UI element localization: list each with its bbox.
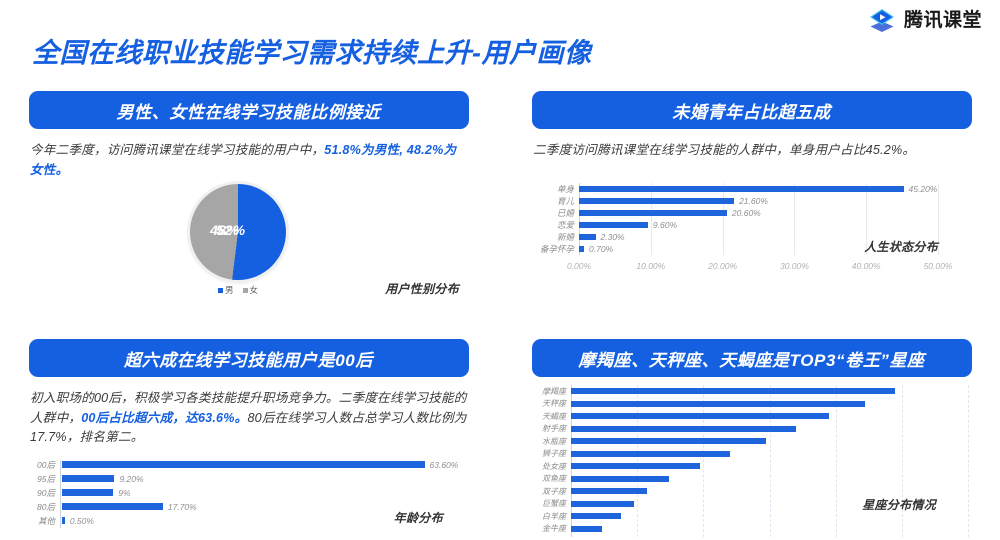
pie-label-female: 48%	[210, 222, 240, 238]
play-diamond-icon	[867, 6, 897, 36]
zodiac-bar	[571, 451, 730, 457]
zodiac-chart-caption: 星座分布情况	[862, 496, 936, 513]
zodiac-bar	[571, 426, 796, 432]
zodiac-bar-track	[571, 451, 968, 457]
age-bar-value: 63.60%	[425, 460, 459, 470]
legend-label-male: 男	[225, 284, 234, 296]
zodiac-bar	[571, 501, 634, 507]
zodiac-bar-label: 摩羯座	[517, 386, 571, 397]
card-zodiac: 摩羯座、天秤座、天蝎座是TOP3“卷王”星座 摩羯座天秤座天蝎座射手座水瓶座狮子…	[503, 330, 1000, 540]
life-bar-row: 单身45.20%	[517, 183, 972, 195]
zodiac-bar-label: 狮子座	[517, 448, 571, 459]
life-bar-label: 育儿	[517, 195, 579, 207]
age-bar-track: 9.20%	[62, 475, 461, 482]
legend-item-female: 女	[243, 284, 259, 296]
age-bar-value: 0.50%	[65, 516, 94, 526]
life-chart-caption: 人生状态分布	[864, 238, 938, 255]
card-age-body: 初入职场的00后，积极学习各类技能提升职场竞争力。二季度在线学习技能的人群中，0…	[30, 389, 467, 448]
life-bar-value: 21.60%	[734, 196, 768, 206]
zodiac-bar-label: 巨蟹座	[517, 498, 571, 509]
age-bar-row: 00后63.60%	[14, 458, 469, 472]
life-bar-value: 45.20%	[904, 184, 938, 194]
life-bar-track: 20.60%	[579, 210, 938, 216]
life-bar-label: 恋爱	[517, 219, 579, 231]
zodiac-bar-label: 双鱼座	[517, 473, 571, 484]
life-bar-track: 21.60%	[579, 198, 938, 204]
zodiac-bar-row: 射手座	[517, 423, 972, 436]
zodiac-bar	[571, 526, 602, 532]
age-chart-caption: 年龄分布	[394, 509, 443, 526]
life-bar-label: 单身	[517, 183, 579, 195]
zodiac-bar-label: 白羊座	[517, 511, 571, 522]
life-status-chart: 单身45.20%育儿21.60%已婚20.60%恋爱9.60%新婚2.30%备孕…	[517, 183, 972, 275]
zodiac-bar-label: 金牛座	[517, 523, 571, 534]
x-tick-label: 10.00%	[636, 261, 665, 271]
zodiac-bar-label: 天秤座	[517, 398, 571, 409]
zodiac-bar-row: 天蝎座	[517, 410, 972, 423]
zodiac-bar	[571, 476, 669, 482]
card-marital: 未婚青年占比超五成 二季度访问腾讯课堂在线学习技能的人群中，单身用户占比45.2…	[503, 82, 1000, 330]
age-bar-label: 00后	[14, 459, 60, 471]
legend-swatch-female	[243, 288, 248, 293]
zodiac-bar	[571, 401, 865, 407]
zodiac-bar-row: 天秤座	[517, 398, 972, 411]
x-tick-label: 40.00%	[852, 261, 881, 271]
zodiac-bar-row: 水瓶座	[517, 435, 972, 448]
life-bar-row: 恋爱9.60%	[517, 219, 972, 231]
zodiac-bar-track	[571, 513, 968, 519]
legend-swatch-male	[218, 288, 223, 293]
zodiac-bar-track	[571, 401, 968, 407]
zodiac-bar-row: 狮子座	[517, 448, 972, 461]
age-bar-track: 63.60%	[62, 461, 461, 468]
life-bar-label: 备孕怀孕	[517, 243, 579, 255]
zodiac-bar-row: 处女座	[517, 460, 972, 473]
card-age-heading: 超六成在线学习技能用户是00后	[29, 339, 469, 377]
life-bar-label: 已婚	[517, 207, 579, 219]
card-gender-heading: 男性、女性在线学习技能比例接近	[29, 91, 469, 129]
zodiac-bar	[571, 488, 647, 494]
zodiac-bar	[571, 388, 895, 394]
zodiac-bar-track	[571, 388, 968, 394]
life-bar-track: 9.60%	[579, 222, 938, 228]
gender-pie-chart: 52% 48% 男 女 用户性别分布	[14, 184, 483, 294]
zodiac-bar	[571, 513, 621, 519]
life-bar-value: 9.60%	[648, 220, 677, 230]
card-gender-body-pre: 今年二季度，访问腾讯课堂在线学习技能的用户中，	[30, 143, 324, 157]
zodiac-bar-track	[571, 438, 968, 444]
age-bar-value: 17.70%	[163, 502, 197, 512]
age-bar-label: 80后	[14, 501, 60, 513]
legend-item-male: 男	[218, 284, 234, 296]
life-bar	[579, 210, 727, 216]
zodiac-bar-track	[571, 463, 968, 469]
card-age-body-highlight: 00后占比超六成，达63.6%。	[81, 411, 247, 425]
age-bar-row: 95后9.20%	[14, 472, 469, 486]
age-bar-label: 其他	[14, 515, 60, 527]
zodiac-bar-row: 金牛座	[517, 523, 972, 536]
card-gender: 男性、女性在线学习技能比例接近 今年二季度，访问腾讯课堂在线学习技能的用户中，5…	[0, 82, 497, 330]
zodiac-bar-label: 双子座	[517, 486, 571, 497]
life-bar	[579, 222, 648, 228]
life-bar-value: 0.70%	[584, 244, 613, 254]
life-bar-label: 新婚	[517, 231, 579, 243]
age-bar-row: 90后9%	[14, 486, 469, 500]
zodiac-bar	[571, 438, 766, 444]
card-age: 超六成在线学习技能用户是00后 初入职场的00后，积极学习各类技能提升职场竞争力…	[0, 330, 497, 540]
life-bar-value: 20.60%	[727, 208, 761, 218]
zodiac-chart: 摩羯座天秤座天蝎座射手座水瓶座狮子座处女座双鱼座双子座巨蟹座白羊座金牛座 星座分…	[517, 385, 972, 537]
zodiac-bar-track	[571, 413, 968, 419]
x-tick-label: 50.00%	[924, 261, 953, 271]
zodiac-bar-label: 处女座	[517, 461, 571, 472]
life-bar-value: 2.30%	[596, 232, 625, 242]
card-marital-body: 二季度访问腾讯课堂在线学习技能的人群中，单身用户占比45.2%。	[533, 141, 970, 161]
age-bar-value: 9%	[113, 488, 130, 498]
x-tick-label: 30.00%	[780, 261, 809, 271]
zodiac-bar-row: 双鱼座	[517, 473, 972, 486]
age-bar-value: 9.20%	[114, 474, 143, 484]
zodiac-bar-track	[571, 526, 968, 532]
zodiac-bar-label: 天蝎座	[517, 411, 571, 422]
card-marital-heading: 未婚青年占比超五成	[532, 91, 972, 129]
age-bar	[62, 461, 425, 468]
life-bar	[579, 198, 734, 204]
age-bar	[62, 503, 163, 510]
life-bar-row: 育儿21.60%	[517, 195, 972, 207]
x-tick-label: 0.00%	[567, 261, 591, 271]
page-title: 全国在线职业技能学习需求持续上升-用户画像	[32, 31, 592, 70]
life-bar	[579, 234, 596, 240]
age-bar-track: 9%	[62, 489, 461, 496]
age-bar-label: 90后	[14, 487, 60, 499]
pie-legend: 男 女	[190, 284, 286, 296]
zodiac-bar-track	[571, 488, 968, 494]
age-bar	[62, 489, 113, 496]
age-bar	[62, 475, 114, 482]
zodiac-bar-label: 水瓶座	[517, 436, 571, 447]
zodiac-bar-track	[571, 476, 968, 482]
age-bar-label: 95后	[14, 473, 60, 485]
life-bar-track: 45.20%	[579, 186, 938, 192]
life-bar-row: 已婚20.60%	[517, 207, 972, 219]
legend-label-female: 女	[250, 284, 259, 296]
brand-name: 腾讯课堂	[904, 6, 982, 36]
age-chart: 00后63.60%95后9.20%90后9%80后17.70%其他0.50% 年…	[14, 458, 469, 534]
zodiac-bar-label: 射手座	[517, 423, 571, 434]
cards-grid: 男性、女性在线学习技能比例接近 今年二季度，访问腾讯课堂在线学习技能的用户中，5…	[0, 82, 1000, 540]
x-tick-label: 20.00%	[708, 261, 737, 271]
brand-logo: 腾讯课堂	[867, 6, 982, 36]
zodiac-bar	[571, 413, 829, 419]
zodiac-bar-row: 摩羯座	[517, 385, 972, 398]
card-zodiac-heading: 摩羯座、天秤座、天蝎座是TOP3“卷王”星座	[532, 339, 972, 377]
life-x-axis: 0.00%10.00%20.00%30.00%40.00%50.00%	[579, 261, 938, 275]
zodiac-bar-track	[571, 426, 968, 432]
gender-chart-caption: 用户性别分布	[385, 280, 459, 297]
zodiac-bar	[571, 463, 700, 469]
life-bar	[579, 186, 904, 192]
card-gender-body: 今年二季度，访问腾讯课堂在线学习技能的用户中，51.8%为男性, 48.2%为女…	[30, 141, 467, 180]
